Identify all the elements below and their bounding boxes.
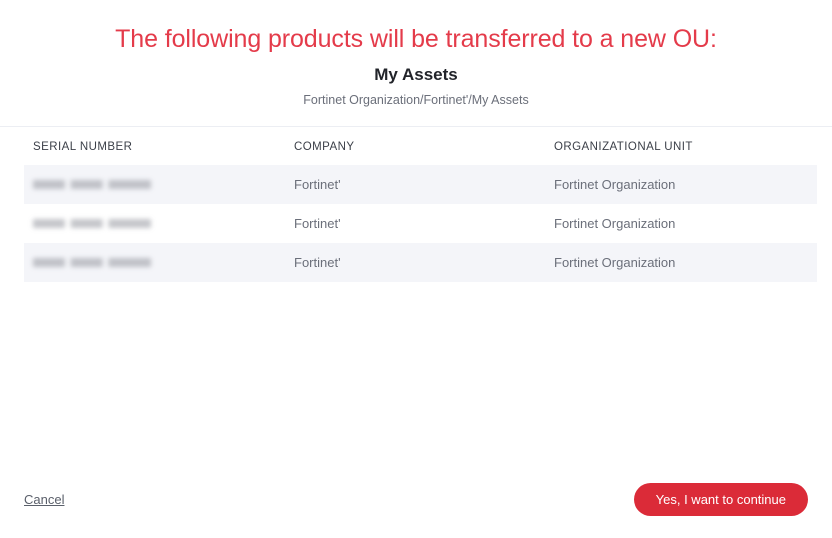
table-header-row: SERIAL NUMBER COMPANY ORGANIZATIONAL UNI… bbox=[24, 127, 817, 165]
page-title: The following products will be transferr… bbox=[0, 24, 832, 54]
column-header-organizational-unit: ORGANIZATIONAL UNIT bbox=[554, 127, 817, 165]
transfer-confirmation-dialog: The following products will be transferr… bbox=[0, 0, 832, 538]
table-row: Fortinet' Fortinet Organization bbox=[24, 165, 817, 204]
redacted-serial-number bbox=[33, 219, 151, 228]
redacted-serial-number bbox=[33, 180, 151, 189]
cell-company: Fortinet' bbox=[294, 165, 554, 204]
cancel-button[interactable]: Cancel bbox=[24, 492, 64, 507]
cell-company: Fortinet' bbox=[294, 243, 554, 282]
dialog-footer: Cancel Yes, I want to continue bbox=[0, 460, 832, 538]
products-table: SERIAL NUMBER COMPANY ORGANIZATIONAL UNI… bbox=[24, 127, 817, 282]
cell-serial-number bbox=[24, 204, 294, 243]
table-head: SERIAL NUMBER COMPANY ORGANIZATIONAL UNI… bbox=[24, 127, 817, 165]
cell-organizational-unit: Fortinet Organization bbox=[554, 243, 817, 282]
cell-organizational-unit: Fortinet Organization bbox=[554, 204, 817, 243]
table-row: Fortinet' Fortinet Organization bbox=[24, 243, 817, 282]
dialog-header: The following products will be transferr… bbox=[0, 0, 832, 108]
breadcrumb: Fortinet Organization/Fortinet'/My Asset… bbox=[0, 92, 832, 108]
table-row: Fortinet' Fortinet Organization bbox=[24, 204, 817, 243]
column-header-serial-number: SERIAL NUMBER bbox=[24, 127, 294, 165]
redacted-serial-number bbox=[33, 258, 151, 267]
cell-serial-number bbox=[24, 165, 294, 204]
target-ou-name: My Assets bbox=[0, 64, 832, 86]
cell-organizational-unit: Fortinet Organization bbox=[554, 165, 817, 204]
cell-serial-number bbox=[24, 243, 294, 282]
cell-company: Fortinet' bbox=[294, 204, 554, 243]
column-header-company: COMPANY bbox=[294, 127, 554, 165]
products-table-container: SERIAL NUMBER COMPANY ORGANIZATIONAL UNI… bbox=[0, 126, 832, 282]
confirm-continue-button[interactable]: Yes, I want to continue bbox=[634, 483, 808, 516]
table-body: Fortinet' Fortinet Organization Fortinet… bbox=[24, 165, 817, 282]
